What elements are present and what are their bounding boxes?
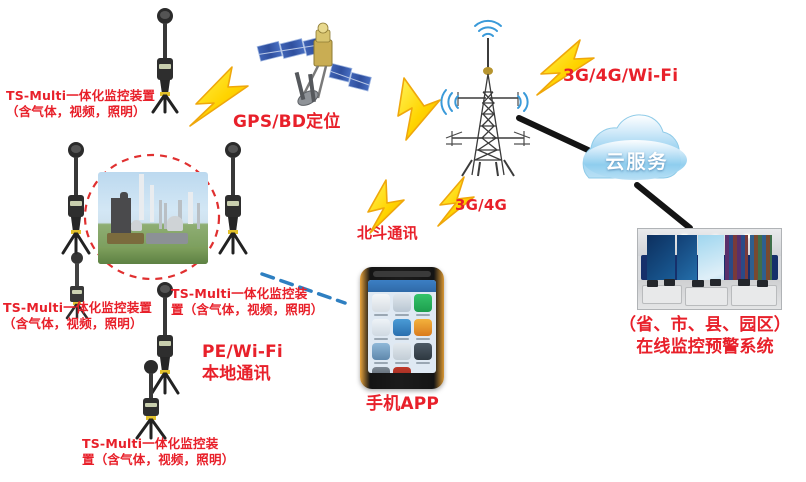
communication-tower-icon <box>441 21 530 176</box>
device-bottom[interactable] <box>128 358 174 440</box>
label-phone-app: 手机APP <box>366 394 439 415</box>
app-grid[interactable] <box>372 294 431 370</box>
label-device-center: TS-Multi一体化监控装 置（含气体，视频，照明） <box>171 286 349 317</box>
control-room-photo <box>637 228 782 310</box>
label-gps-bd: GPS/BD定位 <box>233 112 341 133</box>
diagram-canvas: 云服务 TS-Multi一体化监控装置 （含气体，视频，照明） TS-Multi… <box>0 0 806 482</box>
link-tower-to-cloud <box>519 118 588 150</box>
lightning-bolt-satellite-tower <box>398 78 440 140</box>
label-3g4g: 3G/4G <box>455 196 507 215</box>
industrial-plant-photo <box>98 172 208 264</box>
cloud-service-label: 云服务 <box>592 147 682 174</box>
label-device-top-left: TS-Multi一体化监控装置 （含气体，视频，照明） <box>6 88 206 119</box>
satellite-icon <box>257 23 372 108</box>
device-upper-left[interactable] <box>55 140 97 256</box>
label-local-comm: PE/Wi-Fi 本地通讯 <box>202 341 283 385</box>
label-monitor-center: （省、市、县、园区） 在线监控预警系统 <box>605 314 805 358</box>
label-device-bottom: TS-Multi一体化监控装 置（含气体，视频，照明） <box>82 436 260 467</box>
rugged-smartphone[interactable] <box>360 267 444 389</box>
device-upper-right[interactable] <box>212 140 254 256</box>
label-3g4g-wifi: 3G/4G/Wi-Fi <box>563 66 678 87</box>
link-cloud-to-control-room <box>637 185 690 228</box>
label-beidou-comm: 北斗通讯 <box>357 224 418 243</box>
